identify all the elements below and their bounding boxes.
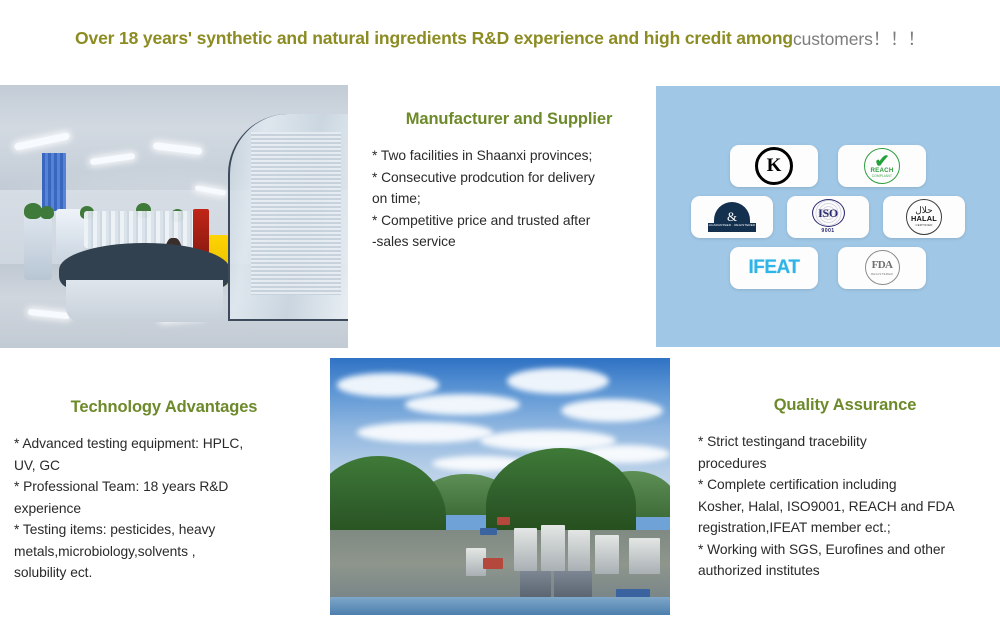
technology-section: Technology Advantages * Advanced testing… <box>14 398 314 584</box>
factory-location-aerial-image <box>330 358 670 615</box>
promo-page: Over 18 years' synthetic and natural ing… <box>0 0 1000 641</box>
reach-compliant-icon: ✔ REACH COMPLIANT <box>864 148 900 184</box>
iso-number: 9001 <box>821 228 834 234</box>
ifeat-membership-card[interactable]: IFEAT <box>730 247 818 289</box>
cloud <box>507 368 609 394</box>
halal-certificate-card[interactable]: حلال HALAL CERTIFIED <box>883 196 965 238</box>
cloud <box>357 422 493 443</box>
badge-banner: GUARANTEED · REGISTERED <box>708 223 756 232</box>
headline-strong: Over 18 years' synthetic and natural ing… <box>75 28 793 49</box>
laboratory-panorama-image <box>0 85 348 348</box>
iso-label: ISO <box>818 207 838 219</box>
headline-tail: customers！！！ <box>793 26 925 51</box>
red-roof <box>497 517 511 525</box>
lab-bench-base <box>66 280 223 322</box>
fda-registered-icon: FDA REGISTERED <box>865 250 900 285</box>
certification-row: & GUARANTEED · REGISTERED ISO 9001 <box>672 196 984 238</box>
china-registration-certificate-card[interactable]: & GUARANTEED · REGISTERED <box>691 196 773 238</box>
headline-banner: Over 18 years' synthetic and natural ing… <box>0 18 1000 58</box>
badge-symbol: & <box>727 210 737 223</box>
lab-scene <box>0 85 348 348</box>
china-registration-icon: & GUARANTEED · REGISTERED <box>706 202 758 232</box>
certifications-panel: K ✔ REACH COMPLIANT & GUARAN <box>656 86 1000 347</box>
window-curtain <box>42 153 66 211</box>
lab-refrigerator <box>24 211 52 279</box>
arabic-script: حلال <box>915 206 932 214</box>
building <box>568 530 590 571</box>
halal-label: HALAL <box>911 214 937 223</box>
quality-body: * Strict testingand tracebility procedur… <box>698 431 998 582</box>
cloud <box>337 373 439 396</box>
building <box>629 538 660 574</box>
manufacturer-title: Manufacturer and Supplier <box>366 110 652 129</box>
iso-certificate-card[interactable]: ISO 9001 <box>787 196 869 238</box>
fda-label: FDA <box>872 260 893 271</box>
fda-sublabel: REGISTERED <box>871 272 893 276</box>
building <box>554 571 591 597</box>
reach-label: REACH <box>870 167 893 174</box>
red-roof <box>483 558 503 568</box>
technology-title: Technology Advantages <box>14 398 314 417</box>
fda-certificate-card[interactable]: FDA REGISTERED <box>838 247 926 289</box>
manufacturer-body: * Two facilities in Shaanxi provinces; *… <box>372 145 652 253</box>
quality-title: Quality Assurance <box>692 396 998 415</box>
certification-row: K ✔ REACH COMPLIANT <box>672 145 984 187</box>
halal-sublabel: CERTIFIED <box>915 223 932 227</box>
reach-certificate-card[interactable]: ✔ REACH COMPLIANT <box>838 145 926 187</box>
certification-row: IFEAT FDA REGISTERED <box>672 247 984 289</box>
ifeat-icon: IFEAT <box>749 258 800 277</box>
kosher-k-icon: K <box>755 147 793 185</box>
halal-icon: حلال HALAL CERTIFIED <box>906 199 942 235</box>
building <box>514 528 538 572</box>
blue-roof <box>480 528 497 536</box>
building <box>595 535 619 574</box>
window-blinds <box>251 132 341 295</box>
technology-body: * Advanced testing equipment: HPLC, UV, … <box>14 433 314 584</box>
iso-9001-icon: ISO 9001 <box>812 199 845 235</box>
quality-section: Quality Assurance * Strict testingand tr… <box>698 396 998 582</box>
reach-sublabel: COMPLIANT <box>872 174 892 178</box>
iso-ring: ISO <box>812 199 845 227</box>
building <box>520 571 551 597</box>
building <box>541 525 565 571</box>
potted-plant <box>40 206 54 219</box>
badge-arc: & <box>714 202 750 224</box>
manufacturer-section: Manufacturer and Supplier * Two faciliti… <box>372 110 652 253</box>
certification-grid: K ✔ REACH COMPLIANT & GUARAN <box>656 86 1000 347</box>
kosher-certificate-card[interactable]: K <box>730 145 818 187</box>
cloud <box>405 394 521 415</box>
red-door <box>193 209 209 254</box>
river <box>330 597 670 615</box>
check-icon: ✔ <box>874 156 889 167</box>
